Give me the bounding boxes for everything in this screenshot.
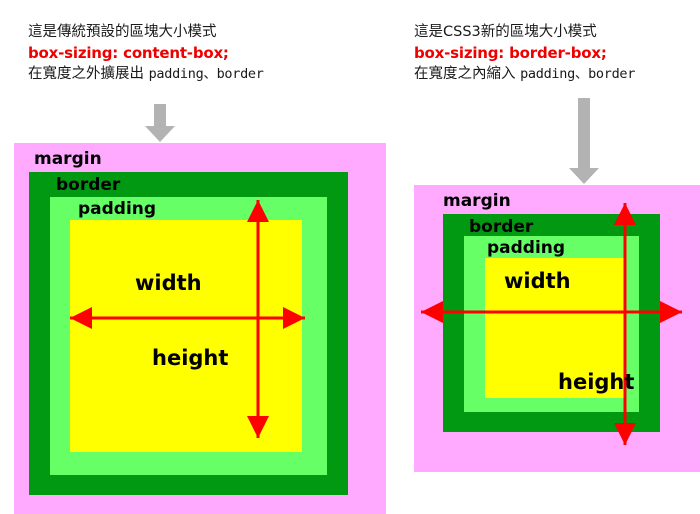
caption-content-box: 這是傳統預設的區塊大小模式 box-sizing: content-box; 在…	[28, 22, 264, 84]
left-margin-label: margin	[34, 149, 102, 169]
caption-right-line-3: 在寬度之內縮入 padding、border	[414, 64, 635, 85]
left-height-measure-arrow	[247, 200, 269, 438]
right-border-label: border	[469, 217, 533, 237]
arrow-head-right	[283, 307, 305, 329]
caption-right-line-3-mono: padding、border	[520, 66, 635, 82]
arrow-head	[145, 126, 175, 142]
arrow-head	[569, 168, 599, 184]
arrow-head-left	[421, 301, 443, 323]
right-width-measure-arrow	[421, 301, 682, 323]
arrow-head-top	[247, 200, 269, 222]
arrow-line	[70, 317, 305, 320]
left-border-box: border padding	[29, 172, 348, 495]
caption-right-code: box-sizing: border-box;	[414, 43, 635, 64]
arrow-head-left	[70, 307, 92, 329]
right-margin-label: margin	[443, 191, 511, 211]
arrow-line	[257, 200, 260, 438]
arrow-shaft	[578, 98, 590, 170]
arrow-head-right	[660, 301, 682, 323]
arrow-head-bottom	[614, 423, 636, 445]
caption-left-line-3: 在寬度之外擴展出 padding、border	[28, 64, 264, 85]
left-margin-box: margin border padding width height	[14, 143, 386, 514]
left-padding-label: padding	[78, 199, 156, 219]
left-width-label: width	[135, 271, 202, 295]
arrow-head-bottom	[247, 416, 269, 438]
arrow-line	[624, 203, 627, 445]
left-width-measure-arrow	[70, 307, 305, 329]
arrow-down-icon-right	[564, 98, 604, 184]
left-height-label: height	[152, 346, 228, 370]
right-height-label: height	[558, 370, 634, 394]
arrow-down-icon-left	[140, 104, 180, 142]
caption-border-box: 這是CSS3新的區塊大小模式 box-sizing: border-box; 在…	[414, 22, 635, 84]
arrow-shaft	[154, 104, 166, 128]
caption-left-code: box-sizing: content-box;	[28, 43, 264, 64]
right-padding-label: padding	[487, 238, 565, 258]
right-width-label: width	[504, 269, 571, 293]
right-height-measure-arrow	[614, 203, 636, 445]
left-padding-box: padding	[50, 197, 327, 475]
arrow-head-top	[614, 203, 636, 225]
caption-left-line-3-mono: padding、border	[149, 66, 264, 82]
caption-right-line-1: 這是CSS3新的區塊大小模式	[414, 22, 635, 43]
right-margin-box: margin border padding width height	[414, 185, 700, 472]
caption-left-line-3-prefix: 在寬度之外擴展出	[28, 66, 149, 82]
left-border-label: border	[56, 175, 120, 195]
caption-left-line-1: 這是傳統預設的區塊大小模式	[28, 22, 264, 43]
arrow-line	[421, 311, 682, 314]
caption-right-line-3-prefix: 在寬度之內縮入	[414, 66, 520, 82]
